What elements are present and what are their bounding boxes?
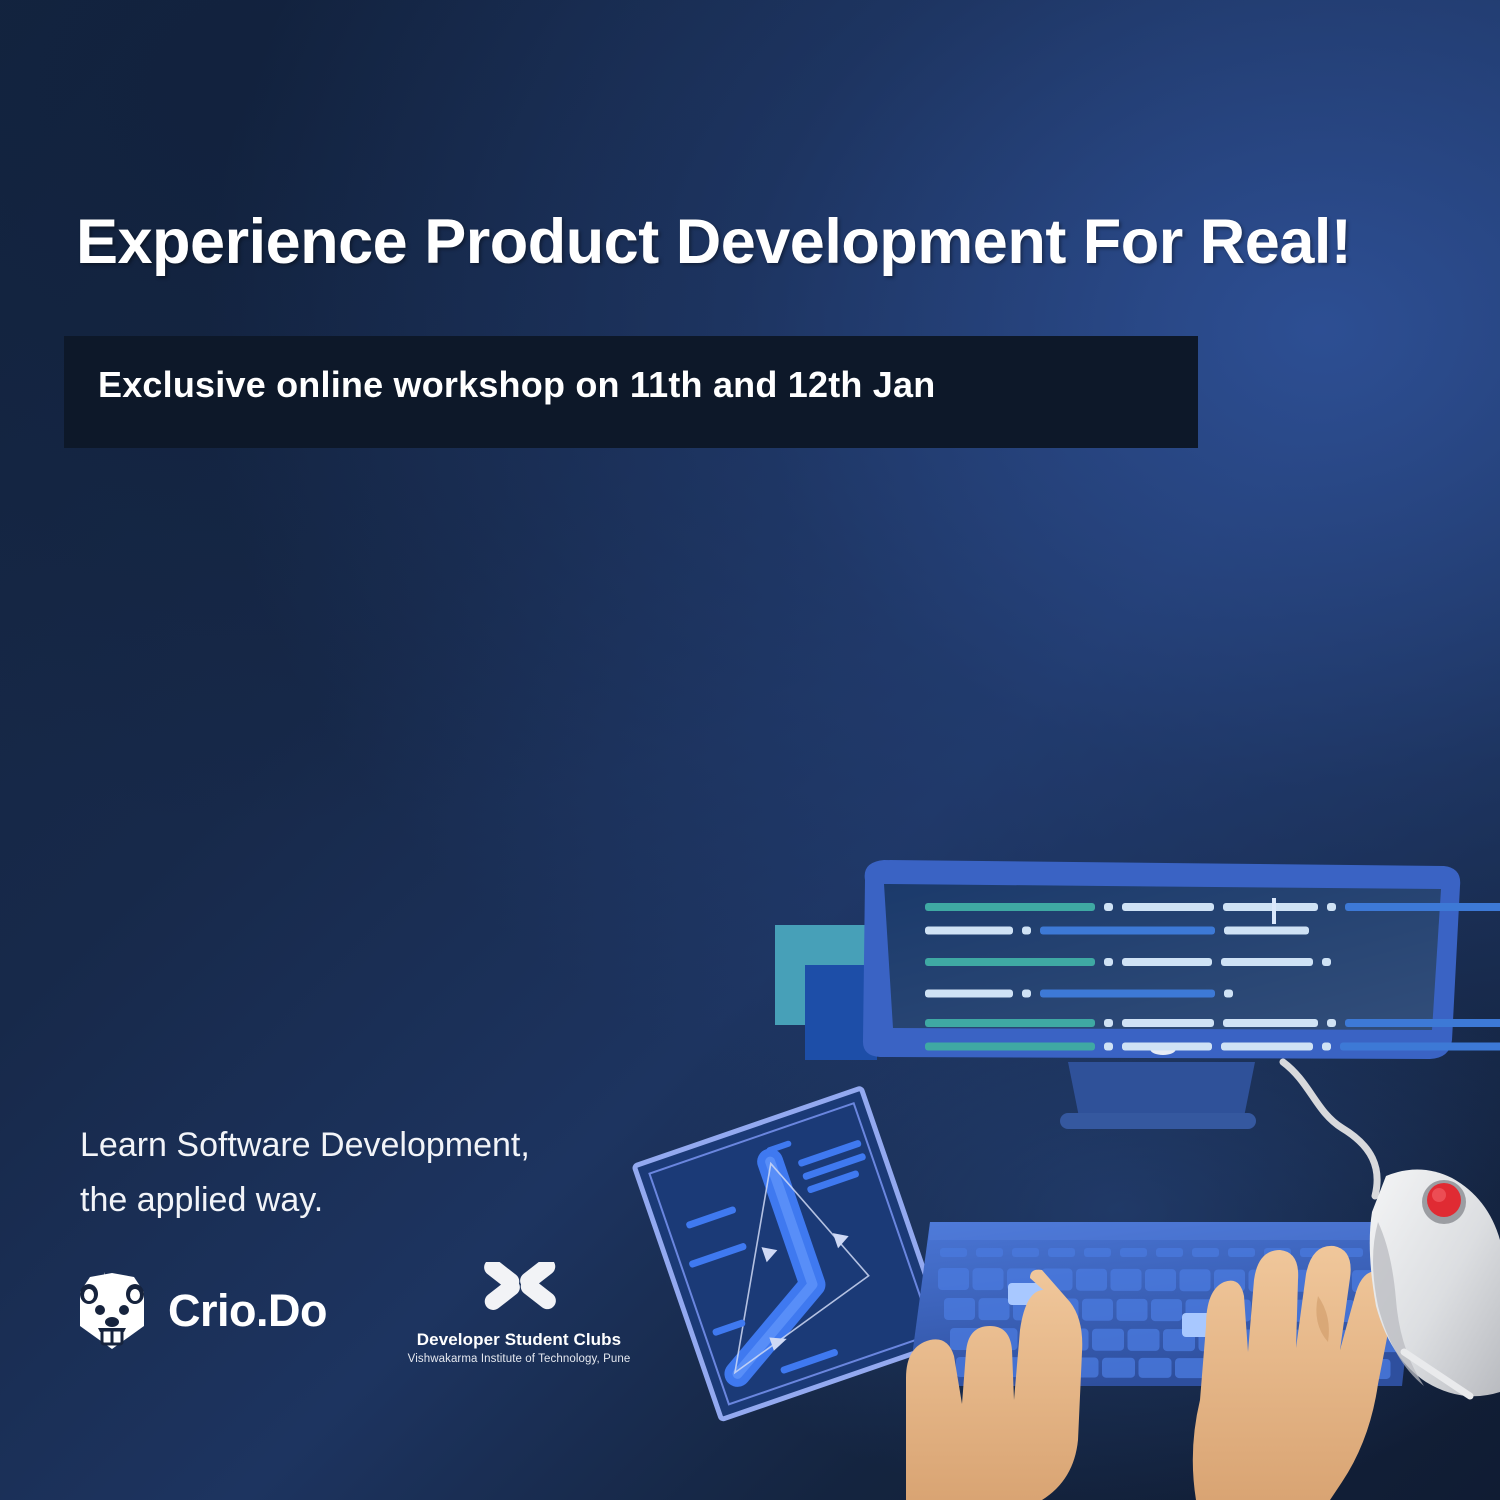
keyboard-key: [1372, 1248, 1399, 1257]
keyboard-key: [979, 1298, 1010, 1320]
code-line-segment: [1345, 1019, 1500, 1027]
code-line-segment: [1322, 958, 1331, 966]
code-line-segment: [1221, 1043, 1313, 1051]
code-line-segment: [1327, 1019, 1336, 1027]
keyboard-key: [1341, 1330, 1373, 1352]
keyboard-key: [1192, 1248, 1219, 1257]
keyboard-key: [1042, 1269, 1073, 1291]
keyboard-key: [1234, 1329, 1266, 1351]
keyboard-key: [1076, 1269, 1107, 1291]
code-line-segment: [1322, 1043, 1331, 1051]
code-line-segment: [1040, 990, 1215, 998]
keyboard-key: [1048, 1248, 1075, 1257]
code-line-segment: [1104, 958, 1113, 966]
keyboard-key: [1156, 1248, 1183, 1257]
keyboard-key: [1180, 1269, 1211, 1291]
page-title: Experience Product Development For Real!: [76, 206, 1351, 278]
keyboard-key: [1283, 1270, 1314, 1292]
blueprint-sheet: [634, 1088, 948, 1420]
keyboard-key: [1128, 1329, 1160, 1351]
keyboard-key: [940, 1248, 967, 1257]
keyboard-key: [1117, 1299, 1148, 1321]
crio-wordmark-part1: Crio: [168, 1285, 256, 1336]
code-cursor: [1272, 898, 1276, 924]
keyboard-key: [950, 1328, 982, 1350]
game-controller: [1370, 1169, 1500, 1396]
keyboard-key: [1248, 1358, 1281, 1378]
desktop-monitor: [863, 860, 1460, 1059]
keyboard-key: [1120, 1248, 1147, 1257]
keyboard-key: [1352, 1270, 1383, 1292]
sticky-note-teal: [775, 925, 865, 1025]
code-line-segment: [1340, 1043, 1500, 1051]
right-hand: [1193, 1246, 1396, 1500]
code-line-segment: [1104, 1019, 1113, 1027]
keyboard-key: [1111, 1269, 1142, 1291]
left-hand: [906, 1270, 1082, 1500]
keyboard-key: [1199, 1329, 1231, 1351]
code-line-segment: [1104, 1043, 1113, 1051]
keyboard-key: [1324, 1300, 1355, 1322]
keyboard-key: [1151, 1299, 1182, 1321]
code-line-segment: [1104, 903, 1113, 911]
keyboard-key: [973, 1268, 1004, 1290]
keyboard-key: [1214, 1269, 1245, 1291]
keyboard-key: [1228, 1248, 1255, 1257]
code-line-segment: [1345, 903, 1500, 911]
keyboard-key: [1084, 1248, 1111, 1257]
tagline-line-2: the applied way.: [80, 1173, 530, 1228]
code-line-segment: [1327, 903, 1336, 911]
keyboard-key: [1249, 1270, 1280, 1292]
keyboard-key: [1057, 1329, 1089, 1351]
keyboard-key: [1220, 1299, 1251, 1321]
keyboard-key: [1007, 1268, 1038, 1290]
keyboard-key: [1048, 1299, 1079, 1321]
highlighted-key-right: [1182, 1313, 1222, 1337]
keyboard-key: [1163, 1329, 1195, 1351]
keyboard-key: [1358, 1300, 1389, 1322]
code-line-segment: [1122, 903, 1214, 911]
keyboard-key: [1013, 1298, 1044, 1320]
highlighted-key-left: [1008, 1283, 1044, 1305]
keyboard-key: [1393, 1300, 1424, 1322]
keyboard-key: [1021, 1328, 1053, 1350]
monitor-stand: [1060, 1062, 1256, 1129]
keyboard-key: [1264, 1248, 1291, 1257]
code-line-segment: [1224, 990, 1233, 998]
keyboard-key: [956, 1357, 989, 1377]
controller-stick: [1404, 1352, 1470, 1396]
code-line-segment: [925, 958, 1095, 966]
keyboard-key: [993, 1357, 1026, 1377]
sticky-note-blue: [805, 965, 877, 1060]
code-line-segment: [1022, 927, 1031, 935]
keyboard-key: [944, 1298, 975, 1320]
keyboard-key: [1175, 1358, 1208, 1378]
code-line-segment: [1221, 958, 1313, 966]
keyboard-key: [986, 1328, 1018, 1350]
code-line-segment: [1122, 1019, 1214, 1027]
keyboard-key: [1336, 1248, 1363, 1257]
keyboard-key: [1387, 1270, 1418, 1292]
keyboard-key: [976, 1248, 1003, 1257]
dsc-title: Developer Student Clubs: [394, 1330, 644, 1350]
beaver-mascot-icon: [74, 1270, 150, 1352]
keyboard-key: [1029, 1357, 1062, 1377]
code-line-segment: [1040, 927, 1215, 935]
keyboard-key: [1270, 1330, 1302, 1352]
keyboard: [908, 1222, 1424, 1386]
crio-logo[interactable]: Crio.Do: [74, 1270, 327, 1352]
subtitle-text: Exclusive online workshop on 11th and 12…: [98, 364, 935, 406]
keyboard-key: [1358, 1359, 1391, 1379]
code-line-segment: [1223, 1019, 1318, 1027]
monitor-cable: [1283, 1062, 1377, 1196]
code-line-segment: [925, 927, 1013, 935]
keyboard-key: [1012, 1248, 1039, 1257]
keyboard-key: [1318, 1270, 1349, 1292]
crio-wordmark: Crio.Do: [168, 1285, 327, 1337]
code-line-segment: [1223, 903, 1318, 911]
keyboard-key: [1255, 1300, 1286, 1322]
keyboard-key: [1145, 1269, 1176, 1291]
keyboard-key: [938, 1268, 969, 1290]
keyboard-key: [1376, 1330, 1408, 1352]
code-line-segment: [925, 990, 1013, 998]
code-chevron-icon: [444, 1262, 594, 1320]
dsc-logo[interactable]: Developer Student Clubs Vishwakarma Inst…: [394, 1262, 644, 1365]
keyboard-key: [1305, 1330, 1337, 1352]
crio-wordmark-part2: .Do: [256, 1285, 327, 1336]
code-line-segment: [925, 1019, 1095, 1027]
keyboard-key: [1139, 1358, 1172, 1378]
keyboard-key: [1321, 1359, 1354, 1379]
poster-canvas: Experience Product Development For Real!…: [0, 0, 1500, 1500]
code-line-segment: [1122, 1043, 1212, 1051]
keyboard-key: [1066, 1358, 1099, 1378]
code-line-segment: [1122, 958, 1212, 966]
keyboard-key: [1082, 1299, 1113, 1321]
keyboard-key: [1102, 1358, 1135, 1378]
code-line-segment: [1224, 927, 1309, 935]
keyboard-key: [1289, 1300, 1320, 1322]
code-line-segment: [925, 903, 1095, 911]
keyboard-key: [1186, 1299, 1217, 1321]
desk-glow: [650, 910, 1500, 1500]
keyboard-key: [1212, 1358, 1245, 1378]
keyboard-key: [1285, 1359, 1318, 1379]
dsc-institute: Vishwakarma Institute of Technology, Pun…: [394, 1353, 644, 1365]
keyboard-key: [1092, 1329, 1124, 1351]
tagline: Learn Software Development, the applied …: [80, 1118, 530, 1228]
code-line-segment: [925, 1043, 1095, 1051]
tagline-line-1: Learn Software Development,: [80, 1118, 530, 1173]
code-line-segment: [1022, 990, 1031, 998]
screen-code-lines: [925, 903, 1500, 1051]
keyboard-key: [1300, 1248, 1327, 1257]
